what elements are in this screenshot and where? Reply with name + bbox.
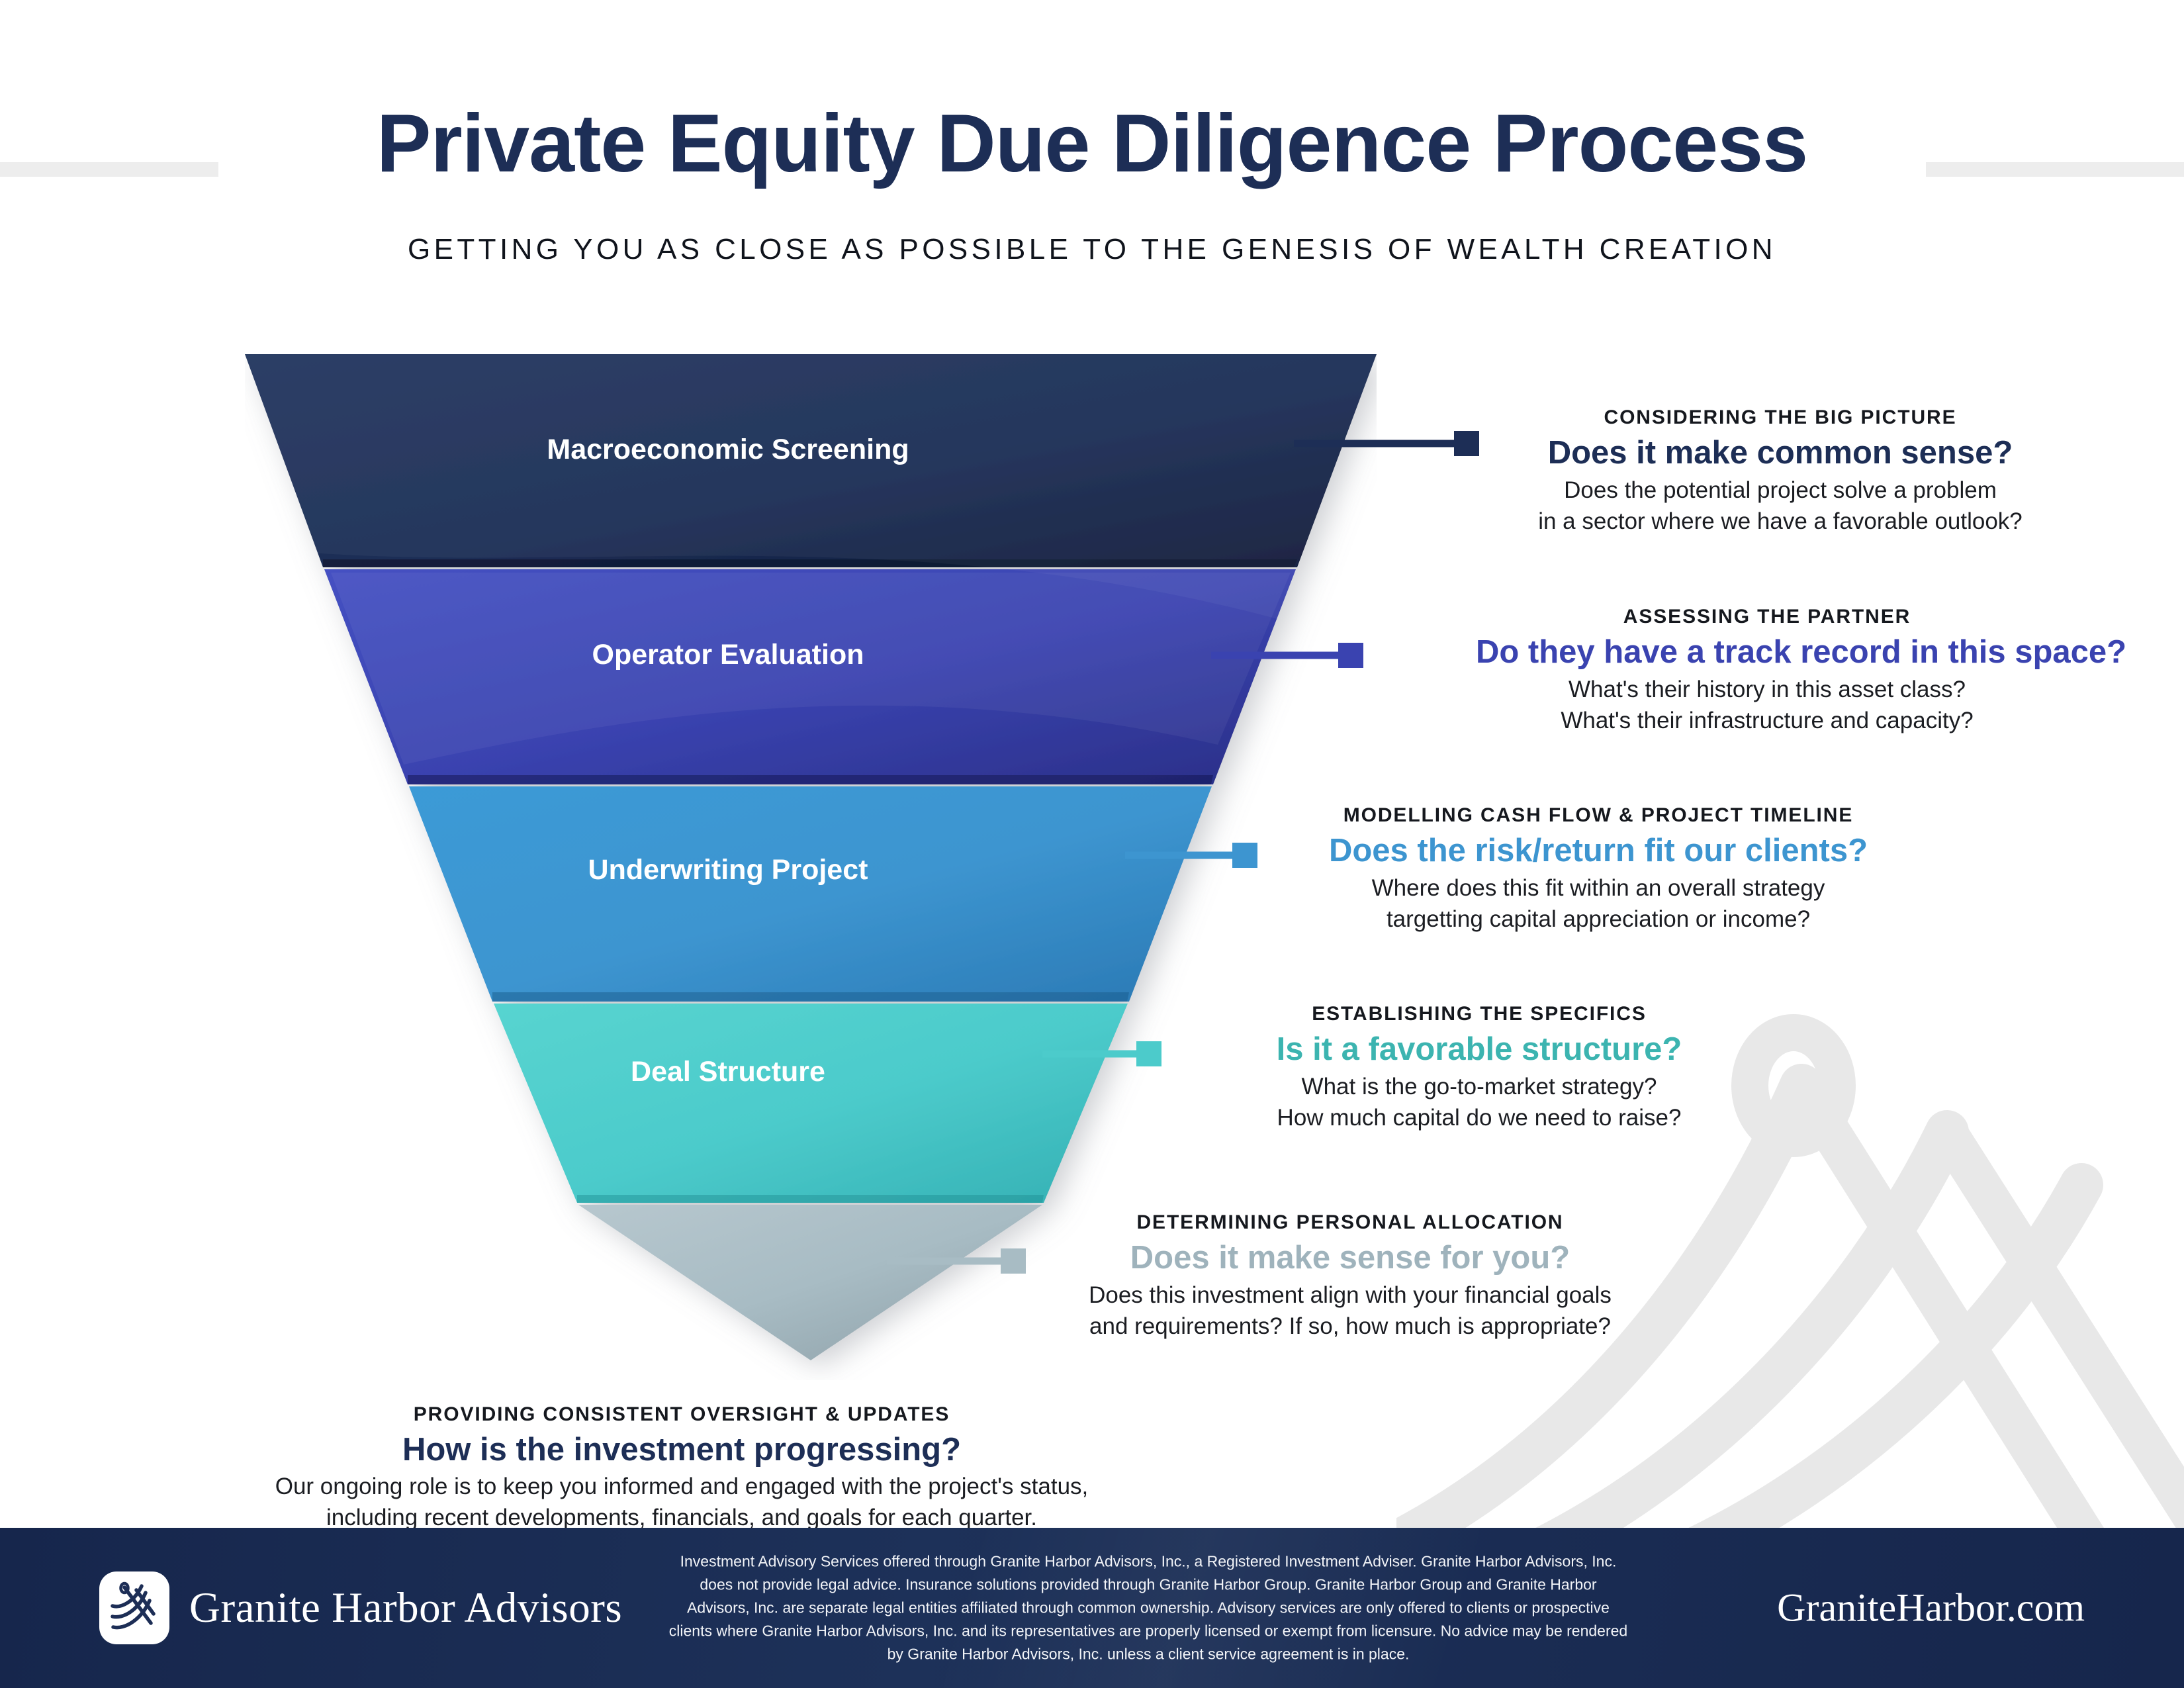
page-title: Private Equity Due Diligence Process <box>0 103 2184 185</box>
funnel-label-1: Macroeconomic Screening <box>245 434 1211 466</box>
connector-line-2 <box>1211 652 1343 659</box>
callout-body-1a: Does the potential project solve a probl… <box>1502 475 2058 506</box>
callout-body-5b: and requirements? If so, how much is app… <box>1046 1311 1655 1342</box>
callout-body-3a: Where does this fit within an overall st… <box>1307 873 1889 904</box>
connector-4 <box>1042 1041 1161 1067</box>
connector-marker-1 <box>1454 431 1479 456</box>
footer-brand[interactable]: Granite Harbor Advisors <box>99 1571 622 1644</box>
callout-kicker-4: ESTABLISHING THE SPECIFICS <box>1188 1002 1770 1027</box>
funnel-label-3: Underwriting Project <box>245 854 1211 886</box>
callout-question-4: Is it a favorable structure? <box>1188 1030 1770 1070</box>
footer-website[interactable]: GraniteHarbor.com <box>1777 1585 2085 1631</box>
connector-line-3 <box>1125 852 1238 859</box>
callout-body-2a: What's their history in this asset class… <box>1476 675 2058 706</box>
connector-2 <box>1211 642 1363 669</box>
granite-harbor-logo-icon <box>99 1571 169 1644</box>
logo-swoosh-icon <box>107 1579 161 1636</box>
funnel-label-2: Operator Evaluation <box>245 639 1211 671</box>
callout-question-1: Does it make common sense? <box>1502 434 2058 473</box>
callout-kicker-5: DETERMINING PERSONAL ALLOCATION <box>1046 1210 1655 1235</box>
footer: Granite Harbor Advisors Investment Advis… <box>0 1528 2184 1688</box>
callout-2: ASSESSING THE PARTNER Do they have a tra… <box>1476 604 2058 736</box>
connector-line-5 <box>887 1258 1006 1265</box>
connector-line-1 <box>1294 440 1459 447</box>
callout-4: ESTABLISHING THE SPECIFICS Is it a favor… <box>1188 1002 1770 1133</box>
footer-brand-name: Granite Harbor Advisors <box>189 1583 622 1633</box>
oversight-question: How is the investment progressing? <box>218 1431 1145 1468</box>
callout-kicker-3: MODELLING CASH FLOW & PROJECT TIMELINE <box>1307 803 1889 828</box>
callout-5: DETERMINING PERSONAL ALLOCATION Does it … <box>1046 1210 1655 1342</box>
footer-disclaimer: Investment Advisory Services offered thr… <box>668 1550 1628 1666</box>
callout-kicker-2: ASSESSING THE PARTNER <box>1476 604 2058 630</box>
connector-1 <box>1294 430 1479 457</box>
callout-kicker-1: CONSIDERING THE BIG PICTURE <box>1502 405 2058 430</box>
callout-oversight: PROVIDING CONSISTENT OVERSIGHT & UPDATES… <box>218 1403 1145 1534</box>
callout-question-2: Do they have a track record in this spac… <box>1476 633 2058 673</box>
connector-3 <box>1125 842 1257 868</box>
callout-body-4b: How much capital do we need to raise? <box>1188 1103 1770 1134</box>
callout-3: MODELLING CASH FLOW & PROJECT TIMELINE D… <box>1307 803 1889 935</box>
callout-question-3: Does the risk/return fit our clients? <box>1307 831 1889 871</box>
callout-body-1b: in a sector where we have a favorable ou… <box>1502 506 2058 538</box>
connector-marker-2 <box>1338 643 1363 668</box>
callout-question-5: Does it make sense for you? <box>1046 1239 1655 1278</box>
oversight-kicker: PROVIDING CONSISTENT OVERSIGHT & UPDATES <box>218 1403 1145 1426</box>
connector-marker-5 <box>1001 1248 1026 1274</box>
connector-line-4 <box>1042 1051 1142 1058</box>
connector-marker-3 <box>1232 843 1257 868</box>
callout-body-2b: What's their infrastructure and capacity… <box>1476 706 2058 737</box>
callout-body-5a: Does this investment align with your fin… <box>1046 1280 1655 1311</box>
callout-body-3b: targetting capital appreciation or incom… <box>1307 904 1889 935</box>
page-subtitle: GETTING YOU AS CLOSE AS POSSIBLE TO THE … <box>0 233 2184 266</box>
connector-marker-4 <box>1136 1041 1161 1066</box>
oversight-body-a: Our ongoing role is to keep you informed… <box>218 1472 1145 1503</box>
callout-body-4a: What is the go-to-market strategy? <box>1188 1072 1770 1103</box>
connector-5 <box>887 1248 1026 1274</box>
callout-1: CONSIDERING THE BIG PICTURE Does it make… <box>1502 405 2058 537</box>
